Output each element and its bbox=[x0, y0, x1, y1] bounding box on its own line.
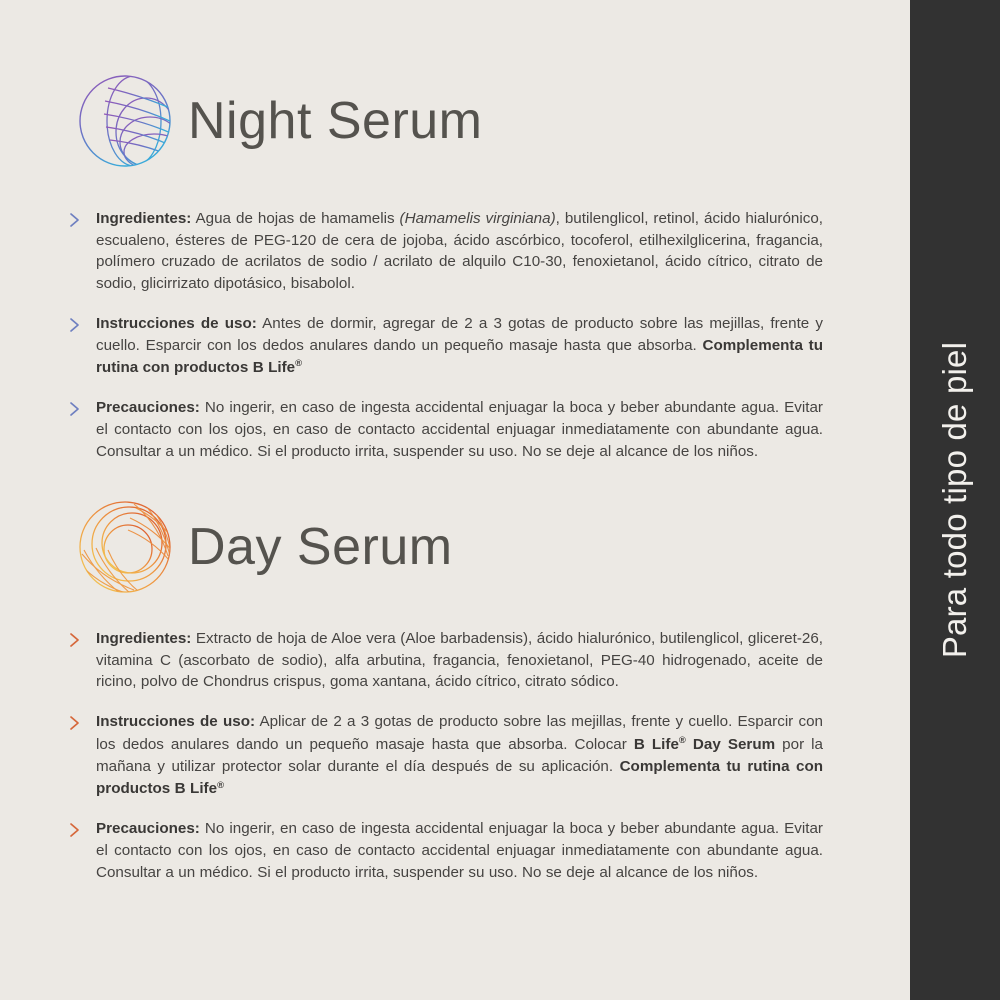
registered-mark: ® bbox=[295, 357, 302, 368]
chevron-right-icon bbox=[68, 711, 96, 731]
day-ingredients-label: Ingredientes: bbox=[96, 630, 191, 647]
chevron-right-icon bbox=[68, 818, 96, 838]
night-serum-header: Night Serum bbox=[72, 68, 483, 174]
night-precautions-body: No ingerir, en caso de ingesta accidenta… bbox=[96, 399, 823, 459]
night-instructions-text: Instrucciones de uso: Antes de dormir, a… bbox=[96, 313, 823, 379]
skin-type-sidebar: Para todo tipo de piel bbox=[910, 0, 1000, 1000]
night-serum-title: Night Serum bbox=[188, 95, 483, 147]
day-instructions-section: Instrucciones de uso: Aplicar de 2 a 3 g… bbox=[68, 711, 823, 800]
product-info-page: Night Serum Ingredientes: Agua de hojas … bbox=[0, 0, 1000, 1000]
day-ingredients-body: Extracto de hoja de Aloe vera (Aloe barb… bbox=[96, 630, 823, 690]
day-ingredients-section: Ingredientes: Extracto de hoja de Aloe v… bbox=[68, 628, 823, 693]
night-precautions-section: Precauciones: No ingerir, en caso de ing… bbox=[68, 397, 823, 462]
night-ingredients-label: Ingredientes: bbox=[96, 210, 191, 227]
day-serum-logo bbox=[72, 494, 178, 600]
day-serum-header: Day Serum bbox=[72, 494, 453, 600]
night-ingredients-text: Ingredientes: Agua de hojas de hamamelis… bbox=[96, 208, 823, 295]
day-precautions-body: No ingerir, en caso de ingesta accidenta… bbox=[96, 820, 823, 880]
night-precautions-label: Precauciones: bbox=[96, 399, 200, 416]
night-ingredients-pre: Agua de hojas de hamamelis bbox=[191, 210, 399, 227]
day-product-name: Day Serum bbox=[686, 736, 775, 753]
night-ingredients-section: Ingredientes: Agua de hojas de hamamelis… bbox=[68, 208, 823, 295]
day-instructions-text: Instrucciones de uso: Aplicar de 2 a 3 g… bbox=[96, 711, 823, 800]
skin-type-label: Para todo tipo de piel bbox=[936, 342, 974, 658]
registered-mark: ® bbox=[217, 778, 224, 789]
chevron-right-icon bbox=[68, 313, 96, 333]
day-serum-sections: Ingredientes: Extracto de hoja de Aloe v… bbox=[68, 628, 823, 883]
day-instructions-label: Instrucciones de uso: bbox=[96, 713, 255, 730]
night-ingredients-latin-name: (Hamamelis virginiana) bbox=[400, 210, 556, 227]
chevron-right-icon bbox=[68, 628, 96, 648]
night-precautions-text: Precauciones: No ingerir, en caso de ing… bbox=[96, 397, 823, 462]
night-serum-sections: Ingredientes: Agua de hojas de hamamelis… bbox=[68, 208, 823, 462]
day-ingredients-text: Ingredientes: Extracto de hoja de Aloe v… bbox=[96, 628, 823, 693]
day-serum-title: Day Serum bbox=[188, 521, 453, 573]
registered-mark: ® bbox=[679, 734, 686, 745]
chevron-right-icon bbox=[68, 208, 96, 228]
main-content: Night Serum Ingredientes: Agua de hojas … bbox=[0, 0, 910, 1000]
night-serum-logo bbox=[72, 68, 178, 174]
day-precautions-text: Precauciones: No ingerir, en caso de ing… bbox=[96, 818, 823, 883]
chevron-right-icon bbox=[68, 397, 96, 417]
day-brand-name: B Life bbox=[634, 736, 679, 753]
day-precautions-section: Precauciones: No ingerir, en caso de ing… bbox=[68, 818, 823, 883]
night-instructions-section: Instrucciones de uso: Antes de dormir, a… bbox=[68, 313, 823, 379]
day-precautions-label: Precauciones: bbox=[96, 820, 200, 837]
night-instructions-label: Instrucciones de uso: bbox=[96, 315, 257, 332]
